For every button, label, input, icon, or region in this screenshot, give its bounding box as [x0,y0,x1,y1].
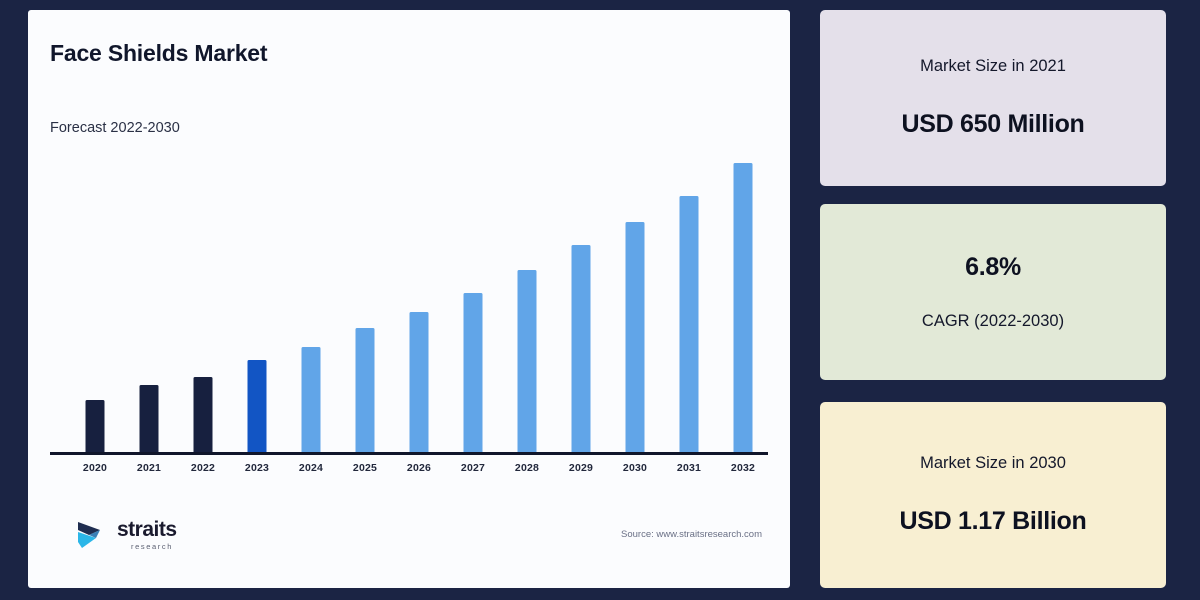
bar-2023 [248,360,267,452]
x-tick-2024: 2024 [284,462,338,474]
straits-research-logo: straits research [76,518,177,552]
bar-slot [392,150,446,452]
bar-2022 [194,377,213,452]
bar-slot [662,150,716,452]
bar-2024 [302,347,321,452]
x-tick-2029: 2029 [554,462,608,474]
stat-card-market-size-2021: Market Size in 2021 USD 650 Million [820,10,1166,186]
infographic-root: Face Shields Market Forecast 2022-2030 2… [0,0,1200,600]
logo-wordmark: straits research [117,519,177,551]
logo-name: straits [117,519,177,540]
bar-slot [176,150,230,452]
straits-arrow-icon [76,518,110,552]
x-tick-2023: 2023 [230,462,284,474]
stat-card-cagr: 6.8% CAGR (2022-2030) [820,204,1166,380]
bar-slot [608,150,662,452]
bar-chart-plot: 2020202120222023202420252026202720282029… [28,10,790,588]
x-axis-line [50,452,768,455]
chart-card: Face Shields Market Forecast 2022-2030 2… [28,10,790,588]
bar-slot [446,150,500,452]
x-tick-2020: 2020 [68,462,122,474]
bar-series [50,150,768,452]
x-tick-2025: 2025 [338,462,392,474]
x-tick-2032: 2032 [716,462,770,474]
x-tick-2022: 2022 [176,462,230,474]
bar-2029 [572,245,591,452]
bar-2027 [464,293,483,452]
stat-card-bottom-label: CAGR (2022-2030) [922,312,1064,331]
bar-2031 [680,196,699,452]
x-tick-2027: 2027 [446,462,500,474]
stat-card-top-label: Market Size in 2021 [920,57,1066,76]
bar-slot [500,150,554,452]
bar-2030 [626,222,645,452]
x-tick-2026: 2026 [392,462,446,474]
bar-slot [716,150,770,452]
logo-tagline: research [131,543,177,551]
source-text: Source: www.straitsresearch.com [621,529,762,540]
stat-card-bottom-label: USD 650 Million [901,110,1084,139]
bar-slot [68,150,122,452]
bar-slot [284,150,338,452]
bar-2026 [410,312,429,452]
bar-2025 [356,328,375,452]
stat-card-top-label: 6.8% [965,253,1021,282]
bar-slot [338,150,392,452]
stat-card-top-label: Market Size in 2030 [920,454,1066,473]
stat-card-market-size-2030: Market Size in 2030 USD 1.17 Billion [820,402,1166,588]
x-tick-2021: 2021 [122,462,176,474]
bar-2020 [86,400,105,452]
x-tick-2028: 2028 [500,462,554,474]
bar-2032 [734,163,753,452]
x-tick-2031: 2031 [662,462,716,474]
stat-card-bottom-label: USD 1.17 Billion [900,507,1087,536]
bar-2028 [518,270,537,452]
bar-slot [230,150,284,452]
bar-2021 [140,385,159,452]
x-tick-2030: 2030 [608,462,662,474]
bar-slot [554,150,608,452]
bar-slot [122,150,176,452]
